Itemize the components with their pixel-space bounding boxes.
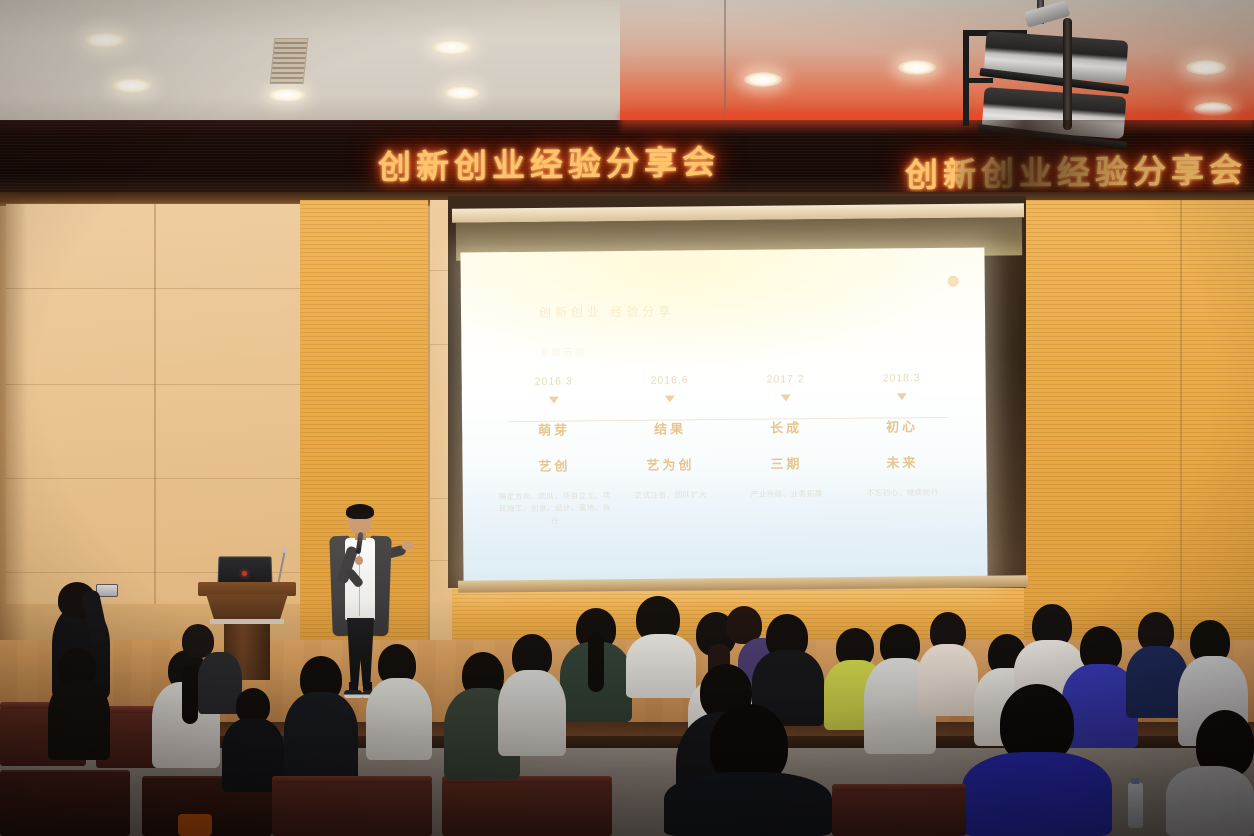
- microphone-capsule-icon: [282, 548, 287, 553]
- audience-person: [626, 634, 696, 698]
- downlight-icon: [898, 60, 936, 75]
- wall-panel-seam: [6, 478, 306, 479]
- auditorium-seat: [272, 780, 432, 836]
- downlight-icon: [1186, 60, 1226, 75]
- audience-hair-ponytail: [588, 632, 604, 692]
- down-triangle-icon: [781, 394, 791, 401]
- audience-person: [498, 670, 566, 756]
- rig-cable: [1063, 18, 1072, 130]
- projector-icon: [982, 87, 1127, 139]
- audience-person-foreground: [664, 772, 832, 836]
- ceiling-seam: [724, 0, 726, 128]
- air-vent-icon: [270, 38, 309, 84]
- audience-person: [366, 678, 432, 760]
- led-banner-text-left: 创新创业经验分享会: [378, 135, 720, 188]
- milestone-date: 2016.6: [614, 374, 726, 387]
- wall-panel-beige-left: [6, 204, 306, 604]
- slide-subtitle: 发展历程: [539, 345, 587, 358]
- auditorium-seat-top: [272, 776, 432, 783]
- orange-bag: [178, 814, 212, 836]
- audience-person: [48, 680, 110, 760]
- downlight-icon: [268, 88, 306, 102]
- led-banner-glow: [620, 112, 1254, 134]
- auditorium-seat: [0, 770, 130, 836]
- downlight-icon: [112, 78, 152, 93]
- projection-screen: 创新创业 经验分享 发展历程 2016.3 萌芽 艺创 确定方向、团队、项目立工…: [460, 247, 987, 582]
- presenter-hair: [346, 504, 374, 519]
- audience-hair-ponytail: [182, 666, 198, 724]
- downlight-icon: [84, 32, 126, 48]
- milestone-date: 2016.3: [498, 375, 610, 388]
- slide-title: 创新创业 经验分享: [539, 302, 675, 320]
- auditorium-seat: [832, 788, 966, 836]
- auditorium-photo-scene: 创新创业经验分享会 创新创业经验分享会: [0, 0, 1254, 836]
- ceiling-red-glow: [620, 0, 1254, 128]
- auditorium-seat-top: [832, 784, 966, 791]
- milestone-keyword-top: 长成: [730, 417, 842, 437]
- downlight-icon: [444, 86, 480, 100]
- milestone-date: 2018.3: [846, 372, 958, 385]
- milestone-date: 2017.2: [730, 373, 842, 386]
- milestone-keyword-top: 初心: [846, 416, 958, 436]
- audience: [0, 560, 1254, 836]
- downlight-icon: [432, 40, 472, 55]
- downlight-icon: [744, 72, 782, 87]
- audience-person-foreground: [962, 752, 1112, 836]
- milestone-keyword-top: 结果: [614, 418, 726, 438]
- wall-panel-seam: [6, 288, 306, 289]
- water-bottle: [1128, 782, 1143, 828]
- rig-arm-mid: [963, 78, 993, 83]
- wall-panel-seam: [6, 384, 306, 385]
- milestone-keyword-top: 萌芽: [498, 419, 610, 439]
- led-banner-text-right: 创新创业经验分享会: [905, 143, 1247, 196]
- audience-person-foreground: [1166, 766, 1254, 836]
- audience-person: [918, 644, 978, 716]
- down-triangle-icon: [549, 397, 559, 404]
- down-triangle-icon: [665, 395, 675, 402]
- ceiling-projector-rig: [955, 0, 1125, 140]
- presenter-right-hand: [402, 541, 414, 550]
- wall-panel-seam-vertical: [154, 204, 156, 604]
- audience-person: [284, 692, 358, 784]
- projector-icon: [984, 31, 1129, 83]
- down-triangle-icon: [897, 393, 907, 400]
- auditorium-seat: [442, 780, 612, 836]
- bottle-cap-icon: [1131, 778, 1140, 784]
- slide-brand-mark-icon: [948, 276, 959, 287]
